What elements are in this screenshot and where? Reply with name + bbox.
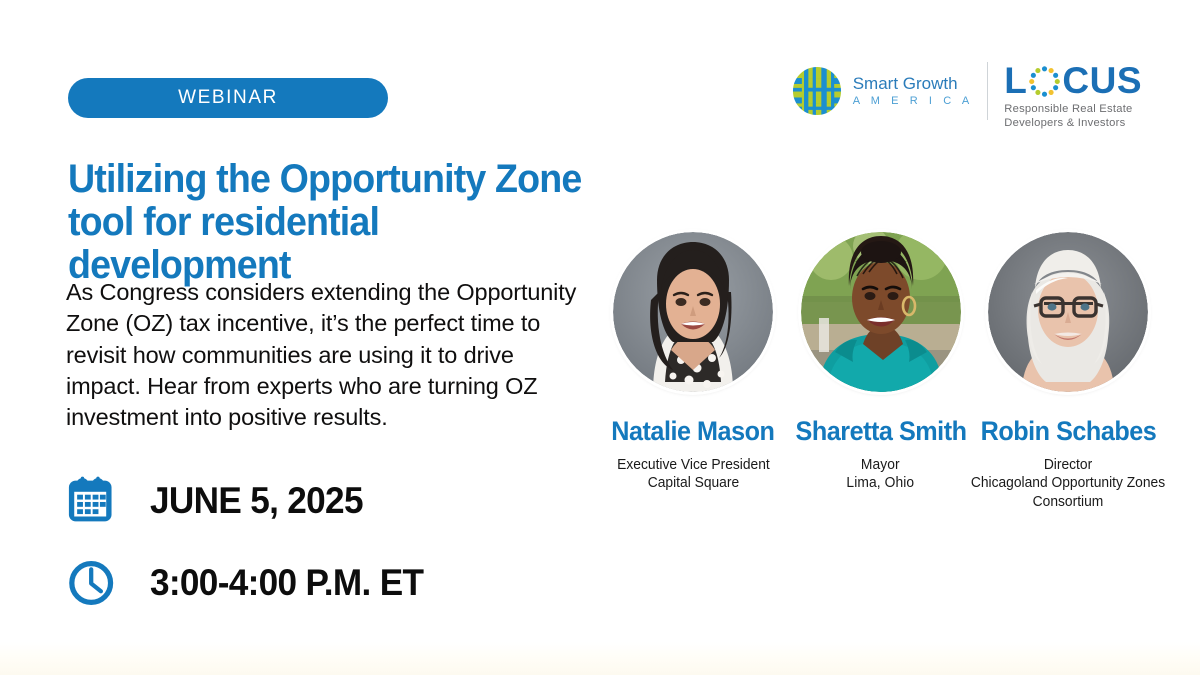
webinar-badge-label: WEBINAR: [178, 87, 278, 109]
speaker-card: Robin Schabes Director Chicagoland Oppor…: [960, 232, 1176, 511]
sga-name-line1: Smart Growth: [853, 75, 974, 93]
event-date-text: JUNE 5, 2025: [150, 480, 363, 522]
smart-growth-america-logo: Smart Growth A M E R I C A: [790, 62, 989, 120]
dotted-ring-icon: [1028, 65, 1061, 98]
speaker-role: Executive Vice President Capital Square: [617, 456, 770, 493]
description-text: As Congress considers extending the Oppo…: [66, 277, 586, 433]
event-date-row: JUNE 5, 2025: [66, 470, 374, 532]
webinar-badge: WEBINAR: [68, 78, 388, 118]
sga-name-line2: A M E R I C A: [853, 95, 974, 107]
speaker-name: Natalie Mason: [611, 416, 774, 447]
speaker-list: Natalie Mason Executive Vice President C…: [604, 232, 1176, 511]
smart-growth-wordmark: Smart Growth A M E R I C A: [853, 75, 974, 108]
clock-icon: [66, 552, 128, 614]
speaker-card: Sharetta Smith Mayor Lima, Ohio: [792, 232, 970, 511]
portrait-sharetta-smith: [801, 232, 961, 392]
woven-circle-icon: [790, 64, 844, 118]
avatar: [988, 232, 1148, 392]
page-title: Utilizing the Opportunity Zone tool for …: [68, 158, 604, 288]
avatar: [613, 232, 773, 392]
speaker-name: Sharetta Smith: [795, 416, 966, 447]
locus-letter-l: L: [1004, 62, 1027, 99]
locus-wordmark: L CUS: [1004, 62, 1142, 99]
logo-group: Smart Growth A M E R I C A L: [790, 62, 1142, 130]
event-time-row: 3:00-4:00 P.M. ET: [66, 552, 438, 614]
speaker-name: Robin Schabes: [980, 416, 1156, 447]
speaker-role: Mayor Lima, Ohio: [847, 456, 915, 493]
avatar: [801, 232, 961, 392]
calendar-icon: [66, 470, 128, 532]
event-time-text: 3:00-4:00 P.M. ET: [150, 562, 423, 604]
portrait-natalie-mason: [613, 232, 773, 392]
locus-letters-cus: CUS: [1062, 62, 1142, 99]
portrait-robin-schabes: [988, 232, 1148, 392]
locus-tagline: Responsible Real Estate Developers & Inv…: [1004, 103, 1132, 130]
webinar-promo-graphic: WEBINAR Utilizing the Opportunity Zone t…: [0, 0, 1200, 675]
locus-logo: L CUS Responsible Real Estate: [1004, 62, 1142, 130]
speaker-card: Natalie Mason Executive Vice President C…: [604, 232, 782, 511]
bottom-accent-band: [0, 642, 1200, 675]
speaker-role: Director Chicagoland Opportunity Zones C…: [964, 456, 1171, 511]
